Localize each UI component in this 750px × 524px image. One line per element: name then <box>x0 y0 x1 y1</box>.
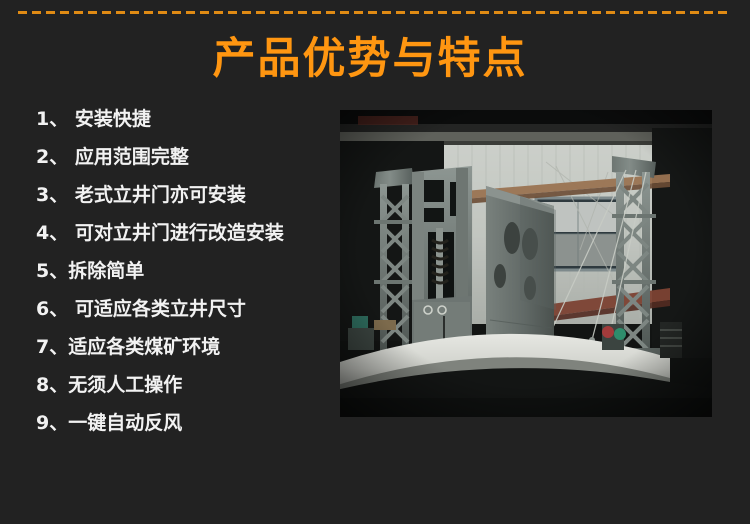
promo-page: 产品优势与特点 1、 安装快捷 2、 应用范围完整 3、 老式立井门亦可安装 4… <box>0 0 750 524</box>
list-item: 4、 可对立井门进行改造安装 <box>36 214 326 252</box>
feature-list: 1、 安装快捷 2、 应用范围完整 3、 老式立井门亦可安装 4、 可对立井门进… <box>36 100 326 442</box>
list-item: 7、适应各类煤矿环境 <box>36 328 326 366</box>
list-item: 5、拆除简单 <box>36 252 326 290</box>
list-item: 3、 老式立井门亦可安装 <box>36 176 326 214</box>
list-item: 1、 安装快捷 <box>36 100 326 138</box>
page-title: 产品优势与特点 <box>0 33 740 85</box>
top-dashed-divider <box>18 11 732 14</box>
list-item: 8、无须人工操作 <box>36 366 326 404</box>
product-photo <box>340 110 712 417</box>
list-item: 2、 应用范围完整 <box>36 138 326 176</box>
list-item: 6、 可适应各类立井尺寸 <box>36 290 326 328</box>
list-item: 9、一键自动反风 <box>36 404 326 442</box>
product-photo-illustration <box>340 110 712 417</box>
